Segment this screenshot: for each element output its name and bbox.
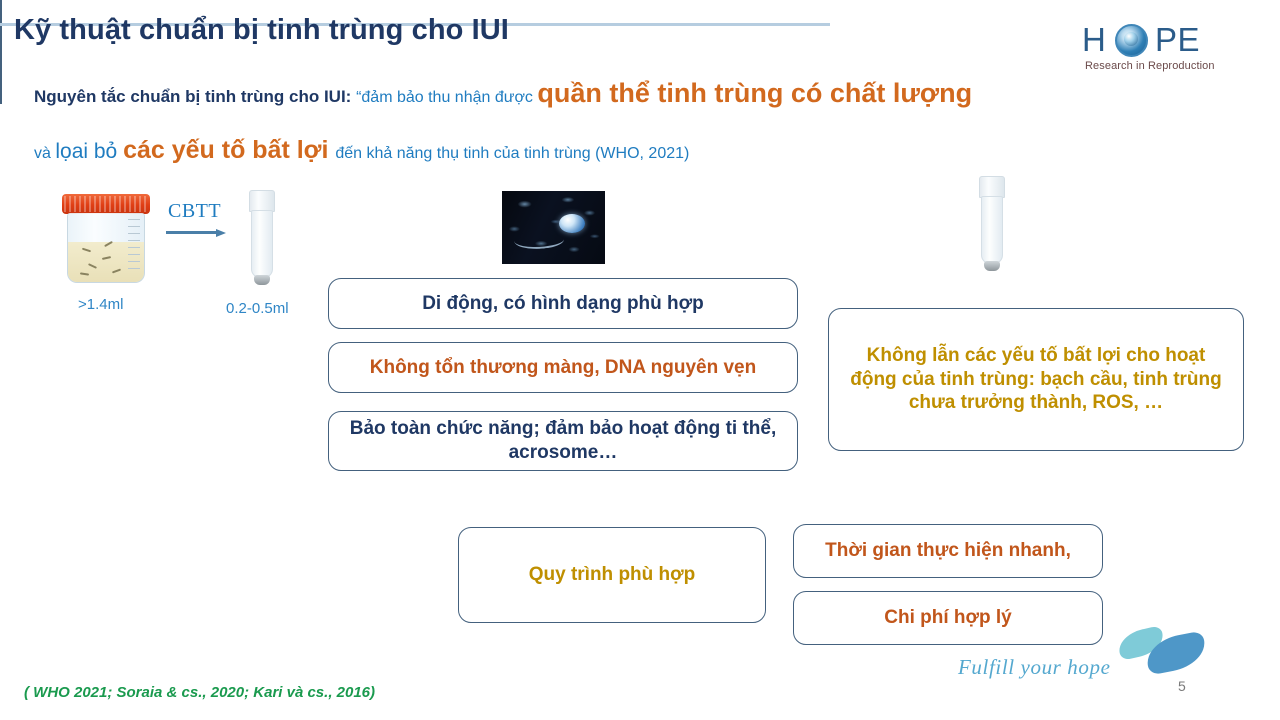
- hope-logo: H PE Research in Reproduction: [1082, 22, 1207, 78]
- eye-icon: [1115, 24, 1148, 57]
- arrow-head: [216, 229, 226, 237]
- hope-tagline: Research in Reproduction: [1085, 60, 1210, 72]
- box-motility-morphology[interactable]: Di động, có hình dạng phù hợp: [328, 278, 798, 329]
- tube-cap: [249, 190, 275, 212]
- specimen-cup-icon: [62, 194, 150, 284]
- citation-text: ( WHO 2021; Soraia & cs., 2020; Kari và …: [24, 684, 375, 701]
- test-tube-icon: [248, 190, 276, 285]
- slide-canvas: Kỹ thuật chuẩn bị tinh trùng cho IUI H P…: [0, 0, 1280, 720]
- box-function-preserved-label: Bảo toàn chức năng; đảm bảo hoạt động ti…: [329, 417, 797, 465]
- subtitle-highlight-adverse: các yếu tố bất lợi: [123, 136, 335, 164]
- arrow-shaft: [166, 231, 218, 234]
- subtitle-remove: lọai bỏ: [55, 140, 123, 163]
- subtitle-quote-open: “đảm bảo thu nhận được: [356, 89, 537, 106]
- box-cost-label: Chi phí hợp lý: [870, 606, 1026, 630]
- sperm-head: [559, 214, 585, 233]
- cup-volume-label: >1.4ml: [78, 296, 123, 313]
- hope-wordmark: H PE: [1082, 22, 1207, 58]
- box-function-preserved[interactable]: Bảo toàn chức năng; đảm bảo hoạt động ti…: [328, 411, 798, 471]
- cup-body: [67, 213, 145, 283]
- tube-body: [981, 196, 1003, 264]
- hope-letters-pe: PE: [1155, 22, 1200, 58]
- subtitle-line-2: và lọai bỏ các yếu tố bất lợi đến khả nă…: [34, 138, 689, 163]
- tube-body: [251, 210, 273, 278]
- brand-slogan: Fulfill your hope: [958, 655, 1111, 680]
- box-no-contaminants[interactable]: Không lẫn các yếu tố bất lợi cho hoạt độ…: [828, 308, 1244, 451]
- cup-graduation-marks: [128, 219, 140, 269]
- tube-volume-label: 0.2-0.5ml: [226, 300, 289, 317]
- connector-right-vertical: [0, 26, 2, 66]
- box-fast-time[interactable]: Thời gian thực hiện nhanh,: [793, 524, 1103, 578]
- box-membrane-dna-label: Không tổn thương màng, DNA nguyên vẹn: [356, 356, 770, 380]
- subtitle-line-1: Nguyên tắc chuẩn bị tinh trùng cho IUI: …: [34, 80, 972, 107]
- sperm-micrograph-image: [502, 191, 605, 264]
- page-title: Kỹ thuật chuẩn bị tinh trùng cho IUI: [14, 14, 509, 47]
- tube-foot: [984, 261, 1000, 271]
- tube-foot: [254, 275, 270, 285]
- micrograph-background: [502, 191, 605, 264]
- box-proper-process[interactable]: Quy trình phù hợp: [458, 527, 766, 623]
- process-arrow-icon: [166, 229, 228, 235]
- petal-logo-icon: [1118, 628, 1206, 672]
- box-fast-time-label: Thời gian thực hiện nhanh,: [811, 539, 1085, 563]
- subtitle-highlight-quality: quần thể tinh trùng có chất lượng: [537, 78, 972, 108]
- test-tube-icon-right: [978, 176, 1006, 271]
- box-membrane-dna[interactable]: Không tổn thương màng, DNA nguyên vẹn: [328, 342, 798, 393]
- connector-down-vertical: [0, 66, 2, 104]
- box-no-contaminants-label: Không lẫn các yếu tố bất lợi cho hoạt độ…: [829, 344, 1243, 415]
- box-cost[interactable]: Chi phí hợp lý: [793, 591, 1103, 645]
- connector-left-vertical: [0, 0, 2, 23]
- subtitle-and: và: [34, 145, 55, 162]
- page-number: 5: [1178, 678, 1186, 694]
- subtitle-tail: đến khả năng thụ tinh của tinh trùng (WH…: [335, 145, 689, 162]
- cbtt-label: CBTT: [168, 200, 221, 223]
- subtitle-principle-label: Nguyên tắc chuẩn bị tinh trùng cho IUI:: [34, 87, 356, 106]
- box-proper-process-label: Quy trình phù hợp: [515, 563, 710, 587]
- box-motility-morphology-label: Di động, có hình dạng phù hợp: [408, 292, 718, 316]
- hope-letter-h: H: [1082, 22, 1106, 58]
- tube-cap: [979, 176, 1005, 198]
- cup-lid: [62, 194, 150, 214]
